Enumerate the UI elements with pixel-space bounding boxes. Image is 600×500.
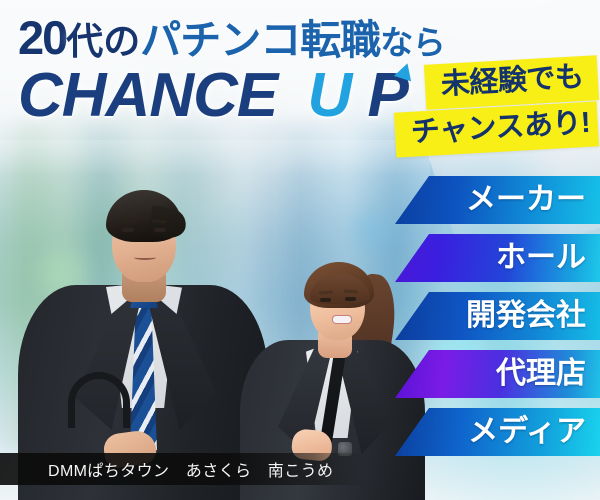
- headline-particle-no: の: [103, 23, 140, 60]
- headline-keyword: パチンコ転職: [140, 20, 380, 61]
- tag-agency-label: 代理店: [496, 359, 586, 389]
- male-eye-left: [122, 228, 134, 232]
- tag-media[interactable]: メディア: [395, 408, 600, 456]
- female-eye-left: [320, 298, 331, 302]
- tag-media-label: メディア: [468, 417, 586, 447]
- business-people-photo: [0, 140, 420, 500]
- headline-line-1: 20 代 の パチンコ転職 なら: [18, 14, 445, 61]
- female-smile: [332, 315, 352, 324]
- brand-word-chance: CHANCE: [18, 61, 277, 130]
- credit-text: DMMぱちタウン あさくら 南こうめ: [48, 457, 333, 481]
- category-tag-list: メーカー ホール 開発会社 代理店 メディア: [395, 176, 600, 456]
- tag-development-company-label: 開発会社: [466, 301, 586, 331]
- headline-age-unit: 代: [66, 23, 103, 60]
- callout-2-text: チャンスあり!: [410, 107, 591, 149]
- tag-hall-label: ホール: [496, 243, 586, 273]
- male-hair-sweep: [148, 205, 189, 241]
- headline-age-number: 20: [18, 14, 66, 61]
- male-mouth: [134, 255, 156, 260]
- male-eye-right: [154, 228, 166, 232]
- male-model: [18, 150, 268, 500]
- female-eye-right: [345, 297, 356, 301]
- tag-development-company[interactable]: 開発会社: [395, 292, 600, 340]
- headline-particle-nara: なら: [380, 26, 445, 59]
- headline-block: 20 代 の パチンコ転職 なら CHANCE U P: [18, 14, 445, 127]
- tag-hall[interactable]: ホール: [395, 234, 600, 282]
- briefcase-handle: [68, 372, 130, 428]
- brand-letter-u: U: [307, 65, 351, 127]
- tag-maker-label: メーカー: [466, 185, 586, 215]
- tag-agency[interactable]: 代理店: [395, 350, 600, 398]
- credit-bar: DMMぱちタウン あさくら 南こうめ: [0, 453, 365, 485]
- promo-banner[interactable]: 20 代 の パチンコ転職 なら CHANCE U P 未経験でも チャンスあり…: [0, 0, 600, 500]
- brand-word-up: U P: [307, 65, 407, 127]
- tag-maker[interactable]: メーカー: [395, 176, 600, 224]
- headline-brand-chanceup: CHANCE U P: [18, 65, 445, 127]
- callout-1-text: 未経験でも: [441, 61, 585, 101]
